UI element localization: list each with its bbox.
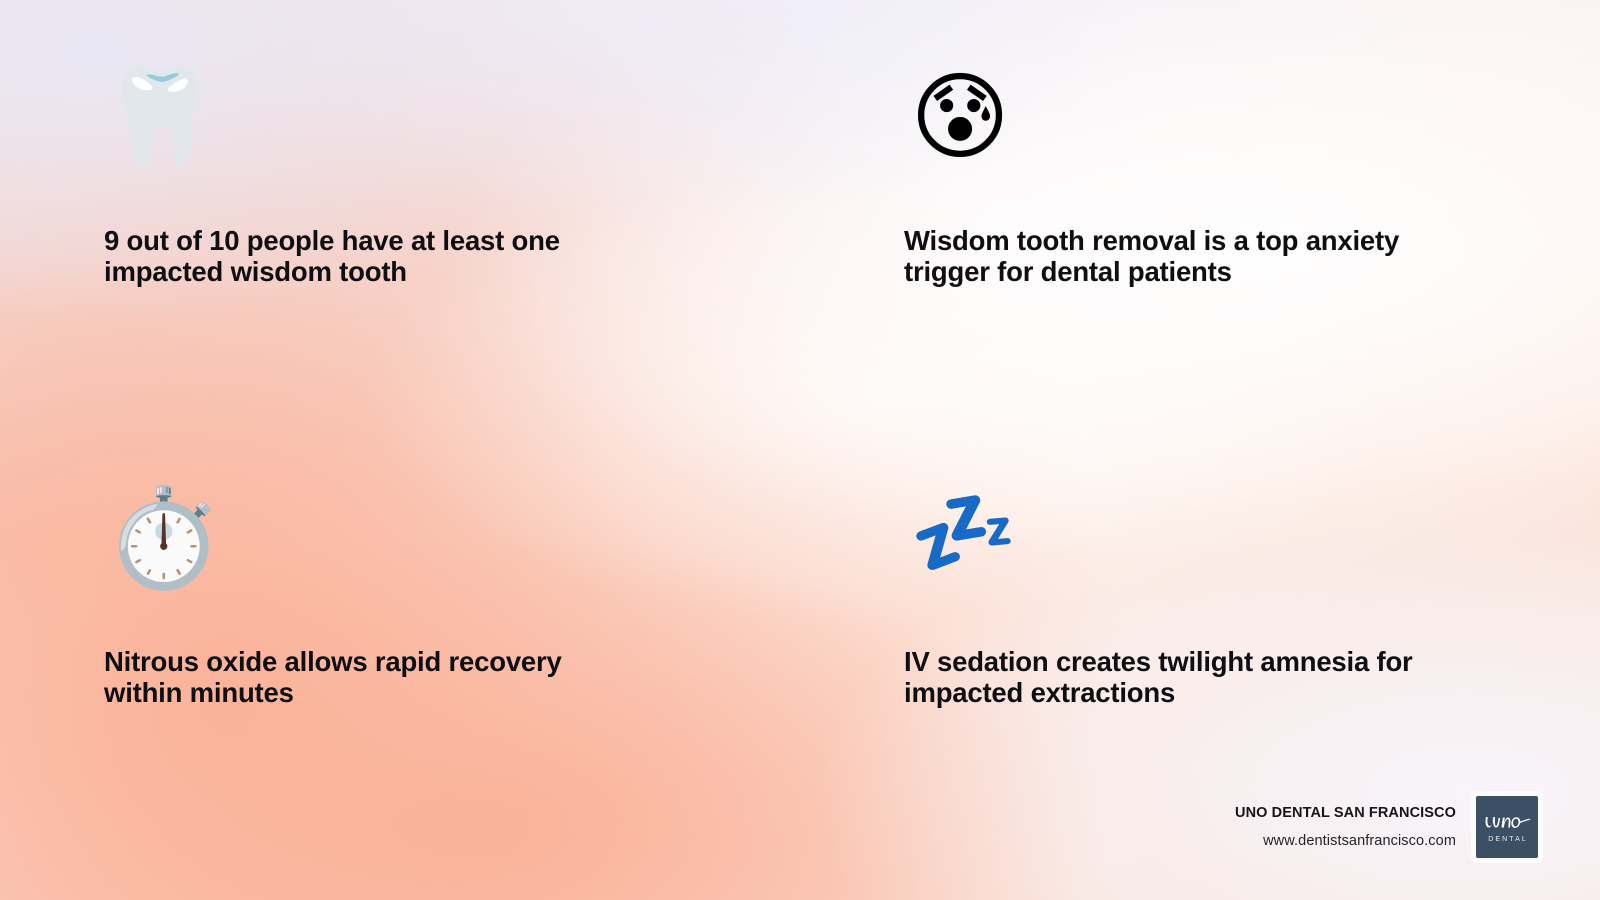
- fact-card-iv-sedation-amnesia: 💤 IV sedation creates twilight amnesia f…: [904, 487, 1524, 709]
- uno-dental-logo: DENTAL: [1476, 796, 1538, 858]
- poster-canvas: 🦷 9 out of 10 people have at least one i…: [0, 0, 1600, 900]
- fact-card-anxiety-trigger: 😰 Wisdom tooth removal is a top anxiety …: [904, 66, 1524, 288]
- brand-logo-subtitle: DENTAL: [1486, 836, 1528, 843]
- uno-script-wordmark-icon: [1483, 811, 1531, 835]
- anxious-face-with-sweat-icon: 😰: [910, 66, 1524, 178]
- fact-card-nitrous-oxide-recovery: ⏱️ Nitrous oxide allows rapid recovery w…: [104, 487, 744, 709]
- fact-text: Wisdom tooth removal is a top anxiety tr…: [904, 226, 1524, 288]
- fact-text: 9 out of 10 people have at least one imp…: [104, 226, 744, 288]
- zzz-sleep-icon: 💤: [910, 487, 1524, 599]
- stopwatch-icon: ⏱️: [104, 487, 744, 599]
- tooth-icon: 🦷: [100, 66, 744, 178]
- fact-text: Nitrous oxide allows rapid recovery with…: [104, 647, 744, 709]
- brand-website-url[interactable]: www.dentistsanfrancisco.com: [1235, 834, 1456, 849]
- fact-text: IV sedation creates twilight amnesia for…: [904, 647, 1524, 709]
- brand-footer: UNO DENTAL SAN FRANCISCO www.dentistsanf…: [1235, 796, 1538, 858]
- brand-text-block: UNO DENTAL SAN FRANCISCO www.dentistsanf…: [1235, 806, 1456, 848]
- fact-grid: 🦷 9 out of 10 people have at least one i…: [0, 0, 1600, 900]
- fact-card-impacted-wisdom-tooth: 🦷 9 out of 10 people have at least one i…: [104, 66, 744, 288]
- brand-name: UNO DENTAL SAN FRANCISCO: [1235, 806, 1456, 821]
